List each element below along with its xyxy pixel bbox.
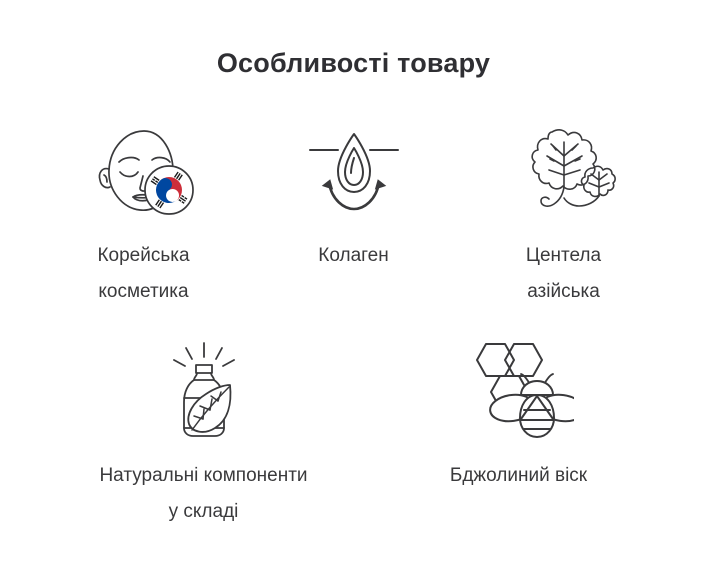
feature-item-korean-cosmetics: Корейська косметика bbox=[36, 126, 251, 310]
features-row-top: Корейська косметика bbox=[0, 126, 707, 310]
page-title: Особливості товару bbox=[0, 48, 707, 79]
water-droplet-absorption-icon bbox=[302, 126, 406, 218]
product-features-section: Особливості товару bbox=[0, 0, 707, 579]
feature-label: Натуральні компоненти у складі bbox=[99, 458, 307, 530]
feature-item-centella: Центела азійська bbox=[456, 126, 671, 310]
feature-label: Центела азійська bbox=[526, 238, 601, 310]
feature-item-natural-components: Натуральні компоненти у складі bbox=[39, 340, 369, 530]
centella-leaf-icon bbox=[507, 126, 621, 218]
feature-label: Колаген bbox=[318, 238, 388, 274]
feature-item-collagen: Колаген bbox=[251, 126, 456, 274]
features-row-bottom: Натуральні компоненти у складі bbox=[0, 340, 707, 530]
feature-item-beeswax: Бджолиний віск bbox=[369, 340, 669, 494]
natural-bottle-leaf-icon bbox=[158, 340, 250, 440]
korean-face-flag-icon bbox=[86, 126, 202, 218]
honeycomb-bee-icon bbox=[464, 340, 574, 440]
feature-label: Корейська косметика bbox=[97, 238, 189, 310]
feature-label: Бджолиний віск bbox=[450, 458, 587, 494]
